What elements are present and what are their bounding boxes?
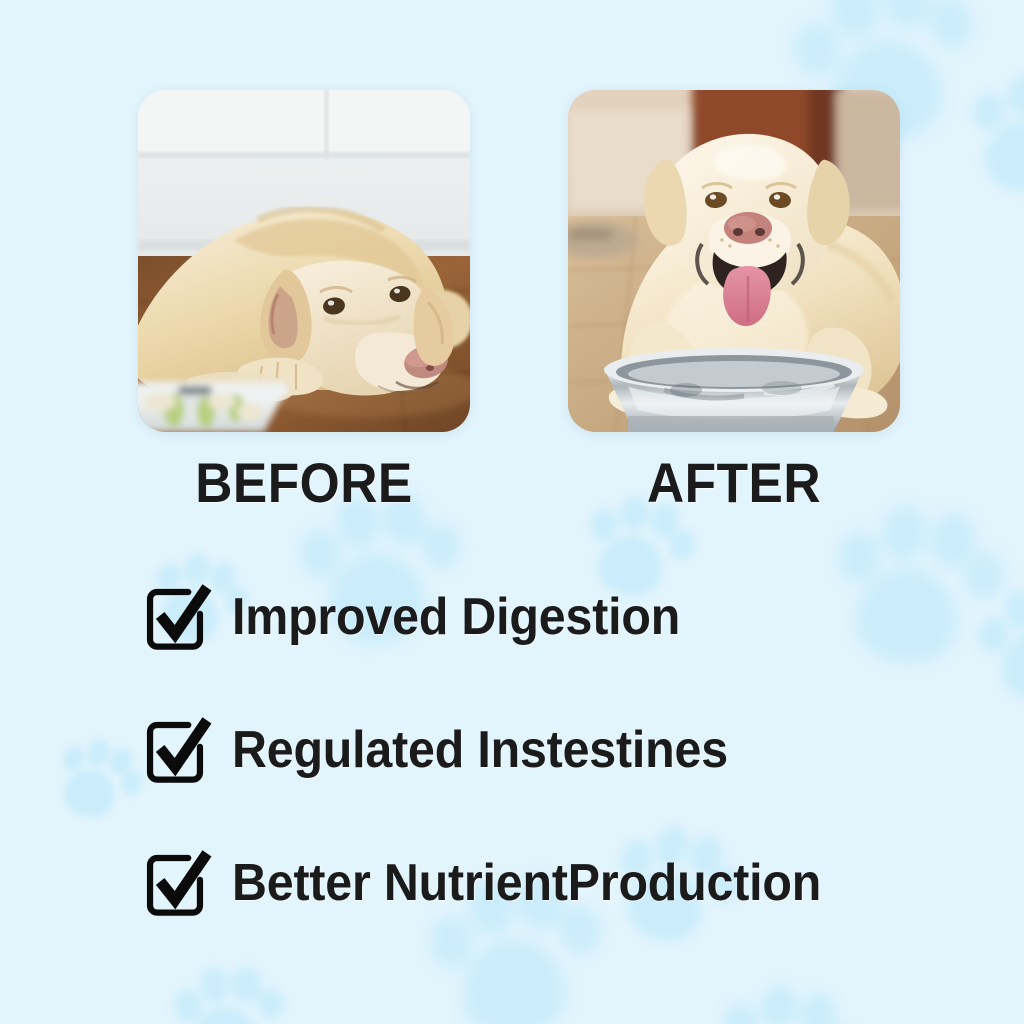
benefit-item-1: Improved Digestion: [136, 578, 966, 656]
before-photo-illustration: [138, 90, 470, 432]
paw-print-decoration: [167, 959, 283, 1024]
after-photo: [568, 90, 900, 432]
before-photo: [138, 90, 470, 432]
paw-print-decoration: [41, 725, 149, 836]
after-photo-illustration: [568, 90, 900, 432]
benefits-list: Improved Digestion Regulated Instestines…: [136, 578, 966, 922]
benefit-item-3: Better NutrientProduction: [136, 844, 966, 922]
paw-print-decoration: [957, 62, 1024, 209]
benefit-label: Regulated Instestines: [232, 721, 728, 779]
paw-print-decoration: [702, 969, 860, 1024]
benefit-label: Better NutrientProduction: [232, 854, 821, 912]
checkbox-checked-icon: [136, 711, 214, 789]
benefit-label: Improved Digestion: [232, 588, 680, 646]
paw-print-decoration: [967, 574, 1024, 717]
checkbox-checked-icon: [136, 578, 214, 656]
benefit-item-2: Regulated Instestines: [136, 711, 966, 789]
before-label: BEFORE: [151, 452, 456, 514]
infographic-canvas: BEFORE AFTER Improved Digestion Regulate…: [0, 0, 1024, 1024]
after-label: AFTER: [581, 452, 886, 514]
checkbox-checked-icon: [136, 844, 214, 922]
